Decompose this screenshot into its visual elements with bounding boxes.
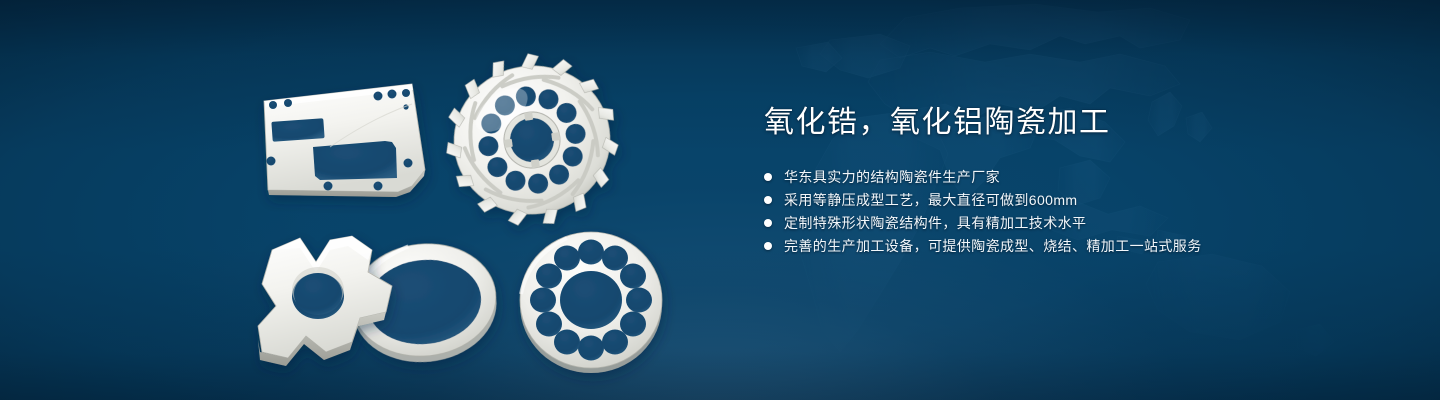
- feature-text: 华东具实力的结构陶瓷件生产厂家: [784, 166, 1000, 189]
- feature-text: 完善的生产加工设备，可提供陶瓷成型、烧结、精加工一站式服务: [784, 235, 1202, 258]
- feature-item: 完善的生产加工设备，可提供陶瓷成型、烧结、精加工一站式服务: [764, 235, 1384, 258]
- feature-item: 华东具实力的结构陶瓷件生产厂家: [764, 166, 1384, 189]
- feature-item: 采用等静压成型工艺，最大直径可做到600mm: [764, 189, 1384, 212]
- bullet-dot-icon: [764, 196, 772, 204]
- banner-headline: 氧化锆，氧化铝陶瓷加工: [764, 104, 1384, 142]
- feature-item: 定制特殊形状陶瓷结构件，具有精加工技术水平: [764, 212, 1384, 235]
- bullet-dot-icon: [764, 173, 772, 181]
- feature-text: 定制特殊形状陶瓷结构件，具有精加工技术水平: [784, 212, 1086, 235]
- bullet-dot-icon: [764, 219, 772, 227]
- feature-list: 华东具实力的结构陶瓷件生产厂家 采用等静压成型工艺，最大直径可做到600mm 定…: [764, 166, 1384, 258]
- banner-copy: 氧化锆，氧化铝陶瓷加工 华东具实力的结构陶瓷件生产厂家 采用等静压成型工艺，最大…: [764, 104, 1384, 258]
- hero-banner: 氧化锆，氧化铝陶瓷加工 华东具实力的结构陶瓷件生产厂家 采用等静压成型工艺，最大…: [0, 0, 1440, 400]
- feature-text: 采用等静压成型工艺，最大直径可做到600mm: [784, 189, 1077, 212]
- bullet-dot-icon: [764, 242, 772, 250]
